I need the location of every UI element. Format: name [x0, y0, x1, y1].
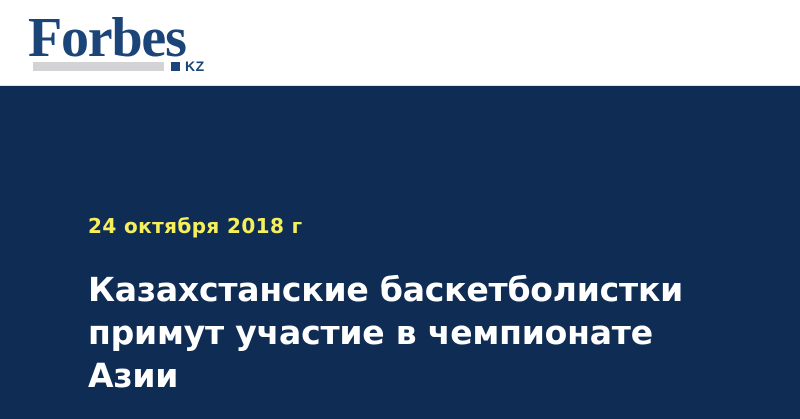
article-body: 24 октября 2018 г Казахстанские баскетбо…	[0, 86, 800, 419]
logo-bar-icon	[33, 62, 164, 71]
forbes-wordmark: Forbes	[28, 10, 186, 66]
article-card: Forbes KZ 24 октября 2018 г Казахстански…	[0, 0, 800, 419]
header-band: Forbes KZ	[0, 0, 800, 86]
forbes-kz-logo[interactable]: Forbes KZ	[28, 10, 238, 80]
logo-country-code: KZ	[185, 59, 205, 73]
article-date: 24 октября 2018 г	[88, 214, 303, 238]
article-title[interactable]: Казахстанские баскетболистки примут учас…	[88, 268, 688, 397]
logo-square-icon	[171, 62, 180, 71]
